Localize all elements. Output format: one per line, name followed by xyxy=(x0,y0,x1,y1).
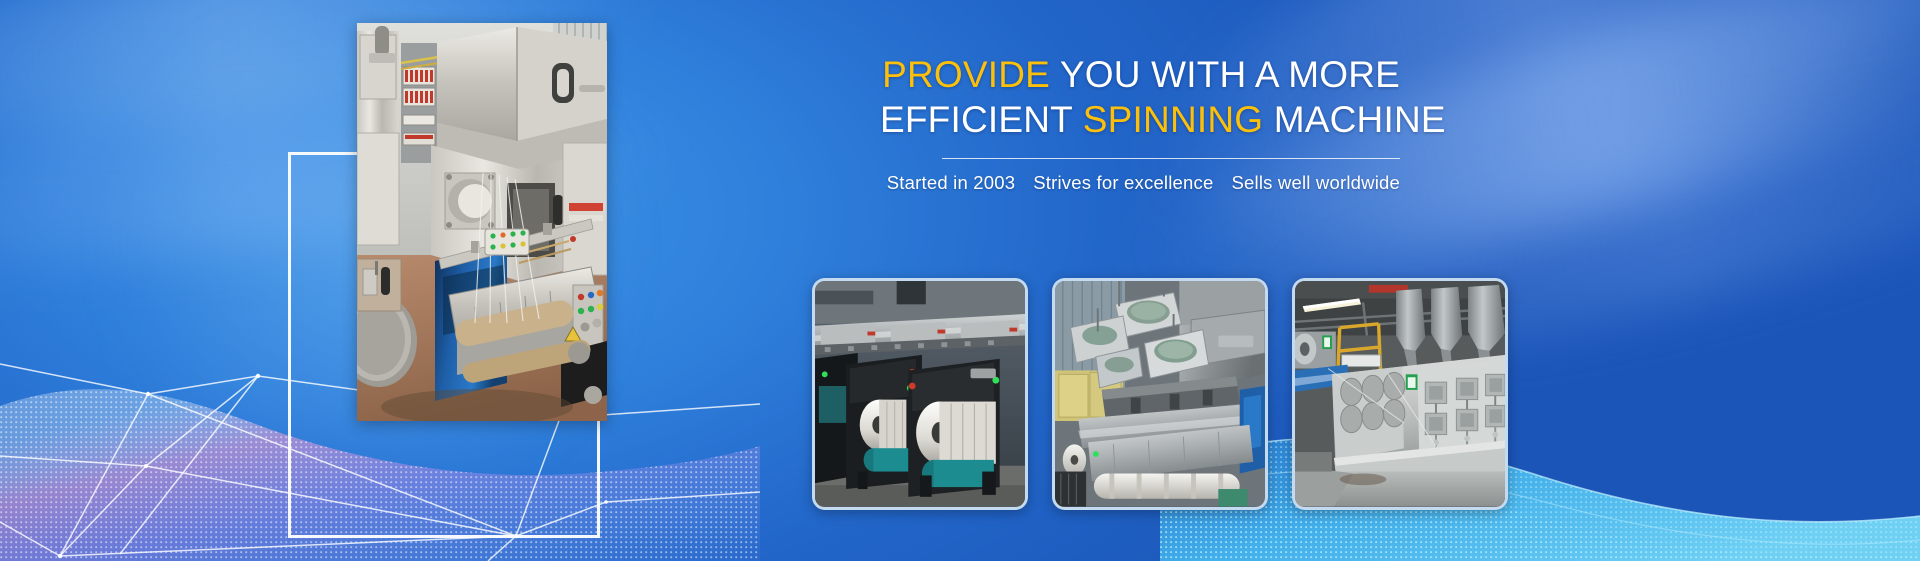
page-title: PROVIDE YOU WITH A MORE EFFICIENT SPINNI… xyxy=(880,52,1400,142)
tagline-item-1: Started in 2003 xyxy=(887,172,1015,194)
tagline-row: Started in 2003Strives for excellenceSel… xyxy=(880,172,1400,194)
thumbnail-photo-2[interactable] xyxy=(1052,278,1268,510)
thumbnail-photo-1[interactable] xyxy=(812,278,1028,510)
hero-product-photo xyxy=(357,23,607,421)
tagline-item-3: Sells well worldwide xyxy=(1231,172,1400,194)
headline-line-1: PROVIDE YOU WITH A MORE xyxy=(880,52,1400,97)
thumbnail-photo-3[interactable] xyxy=(1292,278,1508,510)
headline-highlight-spinning: SPINNING xyxy=(1083,99,1263,140)
headline-line2-lead: EFFICIENT xyxy=(880,99,1083,140)
tagline-item-2: Strives for excellence xyxy=(1033,172,1213,194)
headline-block: PROVIDE YOU WITH A MORE EFFICIENT SPINNI… xyxy=(880,52,1400,194)
thumbnail-gallery xyxy=(812,278,1508,510)
promo-banner: PROVIDE YOU WITH A MORE EFFICIENT SPINNI… xyxy=(0,0,1920,561)
headline-line-2: EFFICIENT SPINNING MACHINE xyxy=(880,97,1400,142)
headline-line1-rest: YOU WITH A MORE xyxy=(1050,54,1400,95)
divider-rule xyxy=(942,158,1400,159)
headline-line2-tail: MACHINE xyxy=(1263,99,1446,140)
headline-highlight-provide: PROVIDE xyxy=(882,54,1050,95)
